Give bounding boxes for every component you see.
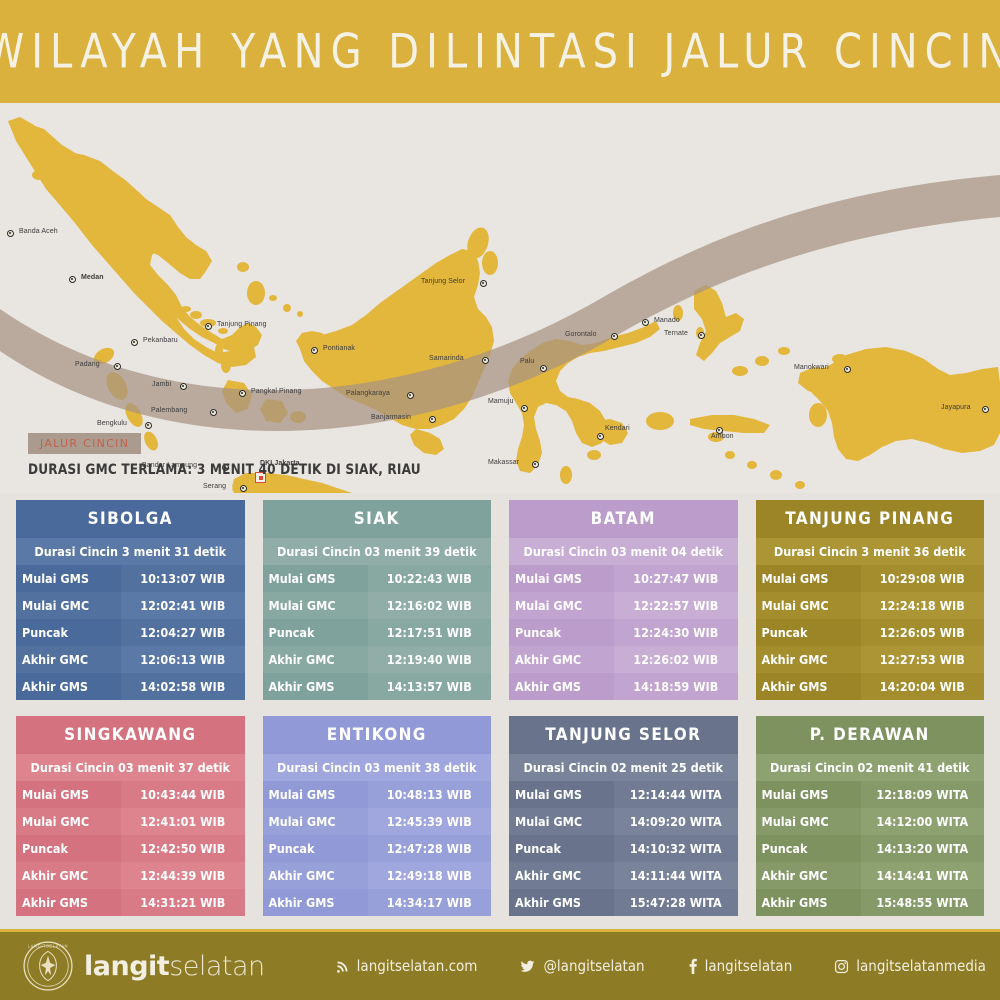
card-row-value: 12:24:30 WIB bbox=[614, 619, 737, 646]
city-timing-card: P. DERAWANDurasi Cincin 02 menit 41 deti… bbox=[756, 716, 985, 916]
card-row: Mulai GMC12:41:01 WIB bbox=[16, 808, 245, 835]
city-dot bbox=[698, 332, 705, 339]
card-row-value: 10:48:13 WIB bbox=[368, 781, 491, 808]
card-row-value: 12:26:02 WIB bbox=[614, 646, 737, 673]
city-label: Tanjung Pinang bbox=[217, 321, 267, 328]
card-row-value: 10:43:44 WIB bbox=[121, 781, 244, 808]
card-row-label: Akhir GMS bbox=[509, 889, 614, 916]
card-row-value: 14:12:00 WITA bbox=[861, 808, 984, 835]
card-row: Akhir GMC12:44:39 WIB bbox=[16, 862, 245, 889]
city-timing-card: BATAMDurasi Cincin 03 menit 04 detikMula… bbox=[509, 500, 738, 700]
card-row-value: 10:22:43 WIB bbox=[368, 565, 491, 592]
social-link[interactable]: langitselatan bbox=[687, 957, 793, 975]
city-label: Bengkulu bbox=[97, 420, 127, 427]
brand-wordmark-light: selatan bbox=[169, 951, 264, 982]
card-row: Akhir GMS14:34:17 WIB bbox=[263, 889, 492, 916]
card-row-label: Mulai GMS bbox=[756, 565, 861, 592]
city-dot bbox=[145, 422, 152, 429]
card-row: Akhir GMC12:19:40 WIB bbox=[263, 646, 492, 673]
card-row: Mulai GMC12:22:57 WIB bbox=[509, 592, 738, 619]
card-row-value: 14:09:20 WITA bbox=[614, 808, 737, 835]
city-label: Gorontalo bbox=[565, 331, 597, 338]
social-link[interactable]: langitselatanmedia bbox=[834, 957, 986, 975]
island-anambas bbox=[269, 295, 277, 301]
city-dot bbox=[482, 357, 489, 364]
city-dot bbox=[131, 339, 138, 346]
city-label: Jambi bbox=[152, 381, 171, 388]
card-row-label: Mulai GMS bbox=[509, 781, 614, 808]
island-kai bbox=[770, 470, 782, 480]
card-duration: Durasi Cincin 02 menit 25 detik bbox=[509, 754, 738, 781]
card-row: Akhir GMC12:27:53 WIB bbox=[756, 646, 985, 673]
card-duration: Durasi Cincin 03 menit 04 detik bbox=[509, 538, 738, 565]
card-row-label: Akhir GMC bbox=[16, 646, 121, 673]
city-timing-card: SIAKDurasi Cincin 03 menit 39 detikMulai… bbox=[263, 500, 492, 700]
card-row-label: Akhir GMS bbox=[263, 889, 368, 916]
card-row: Akhir GMS15:48:55 WITA bbox=[756, 889, 985, 916]
island-natuna-n bbox=[237, 262, 249, 272]
city-dot bbox=[69, 276, 76, 283]
city-timing-card: TANJUNG SELORDurasi Cincin 02 menit 25 d… bbox=[509, 716, 738, 916]
city-label: Pekanbaru bbox=[143, 337, 178, 344]
card-row: Mulai GMC12:02:41 WIB bbox=[16, 592, 245, 619]
card-row-label: Akhir GMS bbox=[756, 673, 861, 700]
card-row-label: Akhir GMS bbox=[509, 673, 614, 700]
card-row: Akhir GMC12:26:02 WIB bbox=[509, 646, 738, 673]
city-dot bbox=[210, 409, 217, 416]
card-row-label: Akhir GMS bbox=[16, 889, 121, 916]
island-natuna bbox=[247, 281, 265, 305]
card-row-value: 12:04:27 WIB bbox=[121, 619, 244, 646]
card-row-label: Mulai GMC bbox=[16, 592, 121, 619]
city-dot bbox=[429, 416, 436, 423]
card-row-label: Akhir GMC bbox=[16, 862, 121, 889]
card-row-value: 15:48:55 WITA bbox=[861, 889, 984, 916]
page-header: WILAYAH YANG DILINTASI JALUR CINCIN bbox=[0, 0, 1000, 103]
card-row-label: Akhir GMC bbox=[509, 646, 614, 673]
page-footer: LANGITSELATAN langitselatan langitselata… bbox=[0, 932, 1000, 1000]
card-row-label: Mulai GMS bbox=[756, 781, 861, 808]
card-row: Mulai GMS10:22:43 WIB bbox=[263, 565, 492, 592]
city-label: Palu bbox=[520, 358, 534, 365]
city-label: Tanjung Selor bbox=[421, 278, 465, 285]
city-dot bbox=[611, 333, 618, 340]
card-city-title: SINGKAWANG bbox=[16, 716, 245, 754]
island-batam bbox=[190, 311, 202, 319]
card-row-label: Akhir GMC bbox=[756, 862, 861, 889]
card-row-value: 10:29:08 WIB bbox=[861, 565, 984, 592]
card-row: Mulai GMS10:27:47 WIB bbox=[509, 565, 738, 592]
island-papua-sw bbox=[809, 403, 827, 427]
island-selayar bbox=[560, 466, 572, 484]
card-row: Puncak12:26:05 WIB bbox=[756, 619, 985, 646]
card-row-label: Puncak bbox=[263, 619, 368, 646]
city-label: Mamuju bbox=[488, 398, 514, 405]
card-row: Puncak12:47:28 WIB bbox=[263, 835, 492, 862]
card-city-title: SIBOLGA bbox=[16, 500, 245, 538]
card-row-label: Puncak bbox=[509, 619, 614, 646]
card-row-label: Puncak bbox=[756, 619, 861, 646]
city-dot bbox=[521, 405, 528, 412]
card-row: Mulai GMS10:13:07 WIB bbox=[16, 565, 245, 592]
card-row: Mulai GMS10:48:13 WIB bbox=[263, 781, 492, 808]
brand-wordmark-bold: langit bbox=[84, 951, 169, 982]
card-duration: Durasi Cincin 03 menit 39 detik bbox=[263, 538, 492, 565]
card-duration: Durasi Cincin 3 menit 31 detik bbox=[16, 538, 245, 565]
city-dot bbox=[540, 365, 547, 372]
card-duration: Durasi Cincin 03 menit 38 detik bbox=[263, 754, 492, 781]
island-anambas-2 bbox=[283, 304, 291, 312]
card-row-value: 12:42:50 WIB bbox=[121, 835, 244, 862]
brand-wordmark: langitselatan bbox=[84, 951, 265, 982]
card-row-label: Akhir GMC bbox=[509, 862, 614, 889]
island-lingga bbox=[215, 344, 223, 356]
card-row-value: 12:14:44 WITA bbox=[614, 781, 737, 808]
city-dot bbox=[982, 406, 989, 413]
city-dot bbox=[597, 433, 604, 440]
card-row-label: Puncak bbox=[263, 835, 368, 862]
city-label: Ambon bbox=[711, 433, 734, 440]
card-row: Akhir GMS14:02:58 WIB bbox=[16, 673, 245, 700]
city-label: Makassar bbox=[488, 459, 519, 466]
card-row: Akhir GMS14:18:59 WIB bbox=[509, 673, 738, 700]
card-row-value: 12:18:09 WITA bbox=[861, 781, 984, 808]
city-label: Pangkal Pinang bbox=[251, 388, 301, 395]
card-city-title: ENTIKONG bbox=[263, 716, 492, 754]
card-row-label: Puncak bbox=[509, 835, 614, 862]
city-label: Padang bbox=[75, 361, 100, 368]
city-label: Kendari bbox=[605, 425, 630, 432]
city-timing-card: SINGKAWANGDurasi Cincin 03 menit 37 deti… bbox=[16, 716, 245, 916]
card-row-label: Mulai GMS bbox=[16, 781, 121, 808]
city-dot bbox=[7, 230, 14, 237]
city-timing-cards: SIBOLGADurasi Cincin 3 menit 31 detikMul… bbox=[0, 500, 1000, 916]
card-row: Mulai GMC12:24:18 WIB bbox=[756, 592, 985, 619]
city-dot bbox=[642, 319, 649, 326]
card-row: Akhir GMS14:13:57 WIB bbox=[263, 673, 492, 700]
card-city-title: BATAM bbox=[509, 500, 738, 538]
social-link-label: @langitselatan bbox=[543, 957, 644, 975]
card-row-value: 14:13:57 WIB bbox=[368, 673, 491, 700]
card-row: Puncak12:42:50 WIB bbox=[16, 835, 245, 862]
card-row-value: 14:34:17 WIB bbox=[368, 889, 491, 916]
social-link[interactable]: langitselatan.com bbox=[335, 957, 478, 975]
card-row-value: 14:14:41 WITA bbox=[861, 862, 984, 889]
card-row: Akhir GMS15:47:28 WITA bbox=[509, 889, 738, 916]
card-row-label: Akhir GMS bbox=[16, 673, 121, 700]
card-row-label: Mulai GMC bbox=[263, 808, 368, 835]
island-maluku-c bbox=[725, 451, 735, 459]
card-row: Akhir GMS14:31:21 WIB bbox=[16, 889, 245, 916]
card-row-value: 12:24:18 WIB bbox=[861, 592, 984, 619]
island-singkep bbox=[221, 357, 231, 373]
card-duration: Durasi Cincin 3 menit 36 detik bbox=[756, 538, 985, 565]
card-row: Puncak14:13:20 WITA bbox=[756, 835, 985, 862]
city-label: Serang bbox=[203, 483, 226, 490]
card-duration: Durasi Cincin 03 menit 37 detik bbox=[16, 754, 245, 781]
city-label: Manado bbox=[654, 317, 680, 324]
city-label: Manokwari bbox=[794, 364, 829, 371]
card-row: Mulai GMC14:09:20 WITA bbox=[509, 808, 738, 835]
card-row-value: 12:41:01 WIB bbox=[121, 808, 244, 835]
city-label: Banda Aceh bbox=[19, 228, 58, 235]
map-graphic bbox=[0, 103, 1000, 493]
social-link-label: langitselatan.com bbox=[357, 957, 478, 975]
island-rupat bbox=[163, 298, 177, 304]
city-dot bbox=[311, 347, 318, 354]
island-riau-b bbox=[232, 337, 240, 343]
island-weh bbox=[32, 170, 46, 180]
card-row-value: 10:13:07 WIB bbox=[121, 565, 244, 592]
island-buton bbox=[587, 450, 601, 460]
rss-icon bbox=[335, 959, 350, 974]
card-row-label: Mulai GMC bbox=[509, 592, 614, 619]
card-row-value: 14:11:44 WITA bbox=[614, 862, 737, 889]
social-links: langitselatan.com@langitselatanlangitsel… bbox=[335, 957, 986, 975]
island-maluku-d bbox=[747, 461, 757, 469]
card-row-value: 14:18:59 WIB bbox=[614, 673, 737, 700]
card-city-title: TANJUNG SELOR bbox=[509, 716, 738, 754]
card-row-label: Mulai GMS bbox=[509, 565, 614, 592]
card-row: Akhir GMC14:14:41 WITA bbox=[756, 862, 985, 889]
facebook-icon bbox=[687, 958, 698, 974]
card-row: Mulai GMC12:45:39 WIB bbox=[263, 808, 492, 835]
city-dot bbox=[180, 383, 187, 390]
page-title: WILAYAH YANG DILINTASI JALUR CINCIN bbox=[0, 24, 1000, 78]
island-maluku-b bbox=[778, 347, 790, 355]
card-row-label: Mulai GMS bbox=[263, 565, 368, 592]
card-row-label: Mulai GMC bbox=[509, 808, 614, 835]
card-row-value: 14:20:04 WIB bbox=[861, 673, 984, 700]
island-waigeo bbox=[832, 354, 848, 364]
card-row-value: 12:17:51 WIB bbox=[368, 619, 491, 646]
card-row-value: 12:44:39 WIB bbox=[121, 862, 244, 889]
city-timing-card: TANJUNG PINANGDurasi Cincin 3 menit 36 d… bbox=[756, 500, 985, 700]
city-dot bbox=[407, 392, 414, 399]
island-anambas-3 bbox=[297, 311, 303, 317]
card-row: Mulai GMS10:43:44 WIB bbox=[16, 781, 245, 808]
card-row-value: 14:13:20 WITA bbox=[861, 835, 984, 862]
card-row-value: 14:31:21 WIB bbox=[121, 889, 244, 916]
card-row-value: 12:16:02 WIB bbox=[368, 592, 491, 619]
card-row-value: 12:47:28 WIB bbox=[368, 835, 491, 862]
card-city-title: P. DERAWAN bbox=[756, 716, 985, 754]
card-row-label: Mulai GMS bbox=[263, 781, 368, 808]
card-city-title: TANJUNG PINANG bbox=[756, 500, 985, 538]
city-dot bbox=[532, 461, 539, 468]
card-row-value: 10:27:47 WIB bbox=[614, 565, 737, 592]
city-dot bbox=[240, 485, 247, 492]
city-dot bbox=[114, 363, 121, 370]
card-row-value: 12:49:18 WIB bbox=[368, 862, 491, 889]
island-karimun bbox=[181, 306, 191, 312]
map-subtitle: DURASI GMC TERLAMA: 3 MENIT 40 DETIK DI … bbox=[28, 462, 421, 478]
card-row-value: 15:47:28 WITA bbox=[614, 889, 737, 916]
svg-text:LANGITSELATAN: LANGITSELATAN bbox=[28, 943, 68, 948]
city-label: Medan bbox=[81, 274, 104, 281]
card-row: Akhir GMC14:11:44 WITA bbox=[509, 862, 738, 889]
city-timing-card: SIBOLGADurasi Cincin 3 menit 31 detikMul… bbox=[16, 500, 245, 700]
card-row-value: 12:22:57 WIB bbox=[614, 592, 737, 619]
card-row-label: Mulai GMS bbox=[16, 565, 121, 592]
card-row: Puncak12:24:30 WIB bbox=[509, 619, 738, 646]
card-row-label: Mulai GMC bbox=[756, 592, 861, 619]
card-row-label: Puncak bbox=[16, 619, 121, 646]
city-label: Jayapura bbox=[941, 404, 971, 411]
langitselatan-logo-icon: LANGITSELATAN bbox=[22, 940, 74, 992]
card-row-value: 12:19:40 WIB bbox=[368, 646, 491, 673]
card-row: Mulai GMC12:16:02 WIB bbox=[263, 592, 492, 619]
city-label: Samarinda bbox=[429, 355, 464, 362]
card-row-label: Puncak bbox=[756, 835, 861, 862]
infographic-page: WILAYAH YANG DILINTASI JALUR CINCIN bbox=[0, 0, 1000, 1000]
card-row-value: 12:02:41 WIB bbox=[121, 592, 244, 619]
city-dot bbox=[844, 366, 851, 373]
card-city-title: SIAK bbox=[263, 500, 492, 538]
card-row-value: 12:27:53 WIB bbox=[861, 646, 984, 673]
card-row: Akhir GMC12:49:18 WIB bbox=[263, 862, 492, 889]
card-duration: Durasi Cincin 02 menit 41 detik bbox=[756, 754, 985, 781]
island-obi bbox=[732, 366, 748, 376]
card-row: Puncak12:04:27 WIB bbox=[16, 619, 245, 646]
city-dot bbox=[480, 280, 487, 287]
island-buru bbox=[646, 412, 674, 430]
card-row-label: Mulai GMC bbox=[756, 808, 861, 835]
brand: LANGITSELATAN langitselatan bbox=[22, 940, 265, 992]
card-row-value: 12:45:39 WIB bbox=[368, 808, 491, 835]
card-row-label: Mulai GMC bbox=[263, 592, 368, 619]
card-row: Akhir GMC12:06:13 WIB bbox=[16, 646, 245, 673]
social-link-label: langitselatanmedia bbox=[856, 957, 986, 975]
card-row: Mulai GMC14:12:00 WITA bbox=[756, 808, 985, 835]
card-row-label: Puncak bbox=[16, 835, 121, 862]
card-row-label: Akhir GMS bbox=[756, 889, 861, 916]
card-row-value: 14:10:32 WITA bbox=[614, 835, 737, 862]
city-label: Palembang bbox=[151, 407, 187, 414]
city-label: Ternate bbox=[664, 330, 688, 337]
card-row: Puncak14:10:32 WITA bbox=[509, 835, 738, 862]
city-label: Banjarmasin bbox=[371, 414, 411, 421]
card-row-label: Akhir GMS bbox=[263, 673, 368, 700]
island-aru bbox=[795, 481, 805, 489]
card-row-label: Akhir GMC bbox=[756, 646, 861, 673]
card-row-value: 12:26:05 WIB bbox=[861, 619, 984, 646]
island-riau-a bbox=[218, 328, 228, 334]
card-row-label: Akhir GMC bbox=[263, 862, 368, 889]
social-link-label: langitselatan bbox=[705, 957, 793, 975]
card-row-label: Akhir GMC bbox=[263, 646, 368, 673]
city-dot bbox=[205, 323, 212, 330]
city-dot bbox=[239, 390, 246, 397]
city-timing-card: ENTIKONGDurasi Cincin 03 menit 38 detikM… bbox=[263, 716, 492, 916]
indonesia-map: Banda AcehMedanPekanbaruPadangJambiPangk… bbox=[0, 103, 1000, 493]
card-row: Akhir GMS14:20:04 WIB bbox=[756, 673, 985, 700]
island-maluku-a bbox=[755, 356, 769, 366]
city-label: Pontianak bbox=[323, 345, 355, 352]
card-row: Mulai GMS12:18:09 WITA bbox=[756, 781, 985, 808]
card-row-label: Mulai GMC bbox=[16, 808, 121, 835]
legend-chip-jalur-cincin: JALUR CINCIN bbox=[28, 433, 141, 454]
card-row: Mulai GMS10:29:08 WIB bbox=[756, 565, 985, 592]
card-row: Puncak12:17:51 WIB bbox=[263, 619, 492, 646]
instagram-icon bbox=[834, 959, 849, 974]
card-row-value: 14:02:58 WIB bbox=[121, 673, 244, 700]
card-row: Mulai GMS12:14:44 WITA bbox=[509, 781, 738, 808]
island-kalimantan-ne2 bbox=[482, 251, 498, 275]
card-row-value: 12:06:13 WIB bbox=[121, 646, 244, 673]
map-legend: JALUR CINCIN bbox=[28, 433, 141, 454]
city-label: Palangkaraya bbox=[346, 390, 390, 397]
social-link[interactable]: @langitselatan bbox=[519, 957, 644, 975]
twitter-icon bbox=[519, 959, 536, 974]
